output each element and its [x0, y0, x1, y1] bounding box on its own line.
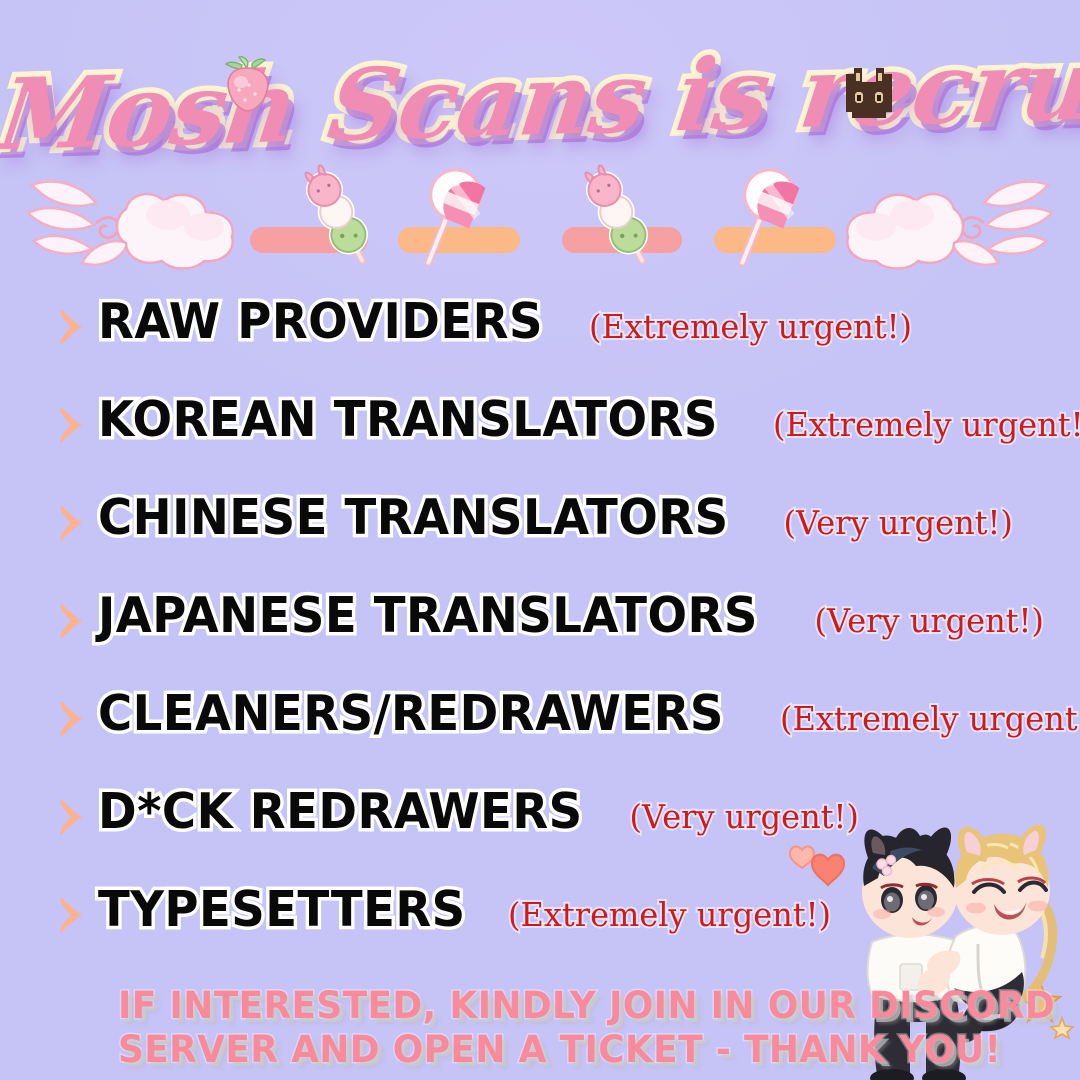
role-title: CLEANERS/REDRAWERS: [98, 680, 724, 748]
chevron-right-icon: [58, 698, 84, 740]
footer-line-1: IF INTERESTED, KINDLY JOIN IN OUR DISCOR…: [118, 984, 1051, 1028]
divider: [0, 165, 1080, 285]
chevron-right-icon: [58, 502, 84, 544]
list-item: CLEANERS/REDRAWERS (Extremely urgent!): [0, 680, 1080, 778]
dango-skewer-icon: [578, 163, 662, 275]
header: Mosh Scans is recruiting!: [0, 26, 1080, 176]
chevron-right-icon: [58, 600, 84, 642]
winged-cloud-icon: [18, 169, 248, 281]
chevron-right-icon: [58, 404, 84, 446]
role-title: CHINESE TRANSLATORS: [98, 484, 729, 552]
role-urgency: (Extremely urgent!): [773, 391, 1080, 459]
strawberry-icon: [222, 56, 274, 112]
list-item: RAW PROVIDERS (Extremely urgent!): [0, 288, 1080, 386]
role-urgency: (Very urgent!): [783, 489, 1012, 557]
role-urgency: (Extremely urgent!): [780, 685, 1080, 753]
role-title: KOREAN TRANSLATORS: [98, 386, 718, 454]
chevron-right-icon: [58, 796, 84, 838]
lollipop-icon: [718, 163, 802, 275]
dango-skewer-icon: [298, 163, 382, 275]
list-item: JAPANESE TRANSLATORS (Very urgent!): [0, 582, 1080, 680]
poster-canvas: Mosh Scans is recruiting!: [0, 0, 1080, 1080]
list-item: CHINESE TRANSLATORS (Very urgent!): [0, 484, 1080, 582]
footer-line-2: SERVER AND OPEN A TICKET - THANK YOU!: [118, 1028, 1051, 1072]
pixel-cat-head-icon: [838, 64, 900, 120]
role-title: D*CK REDRAWERS: [98, 778, 583, 846]
role-title: JAPANESE TRANSLATORS: [98, 582, 758, 650]
role-urgency: (Very urgent!): [814, 587, 1043, 655]
role-title: RAW PROVIDERS: [98, 288, 543, 356]
role-title: TYPESETTERS: [98, 876, 466, 944]
chevron-right-icon: [58, 306, 84, 348]
winged-cloud-icon: [832, 169, 1062, 281]
chevron-right-icon: [58, 894, 84, 936]
footer: IF INTERESTED, KINDLY JOIN IN OUR DISCOR…: [0, 984, 1080, 1072]
role-urgency: (Extremely urgent!): [589, 293, 912, 361]
list-item: KOREAN TRANSLATORS (Extremely urgent!): [0, 386, 1080, 484]
role-urgency: (Extremely urgent!): [508, 881, 831, 949]
lollipop-icon: [404, 163, 488, 275]
